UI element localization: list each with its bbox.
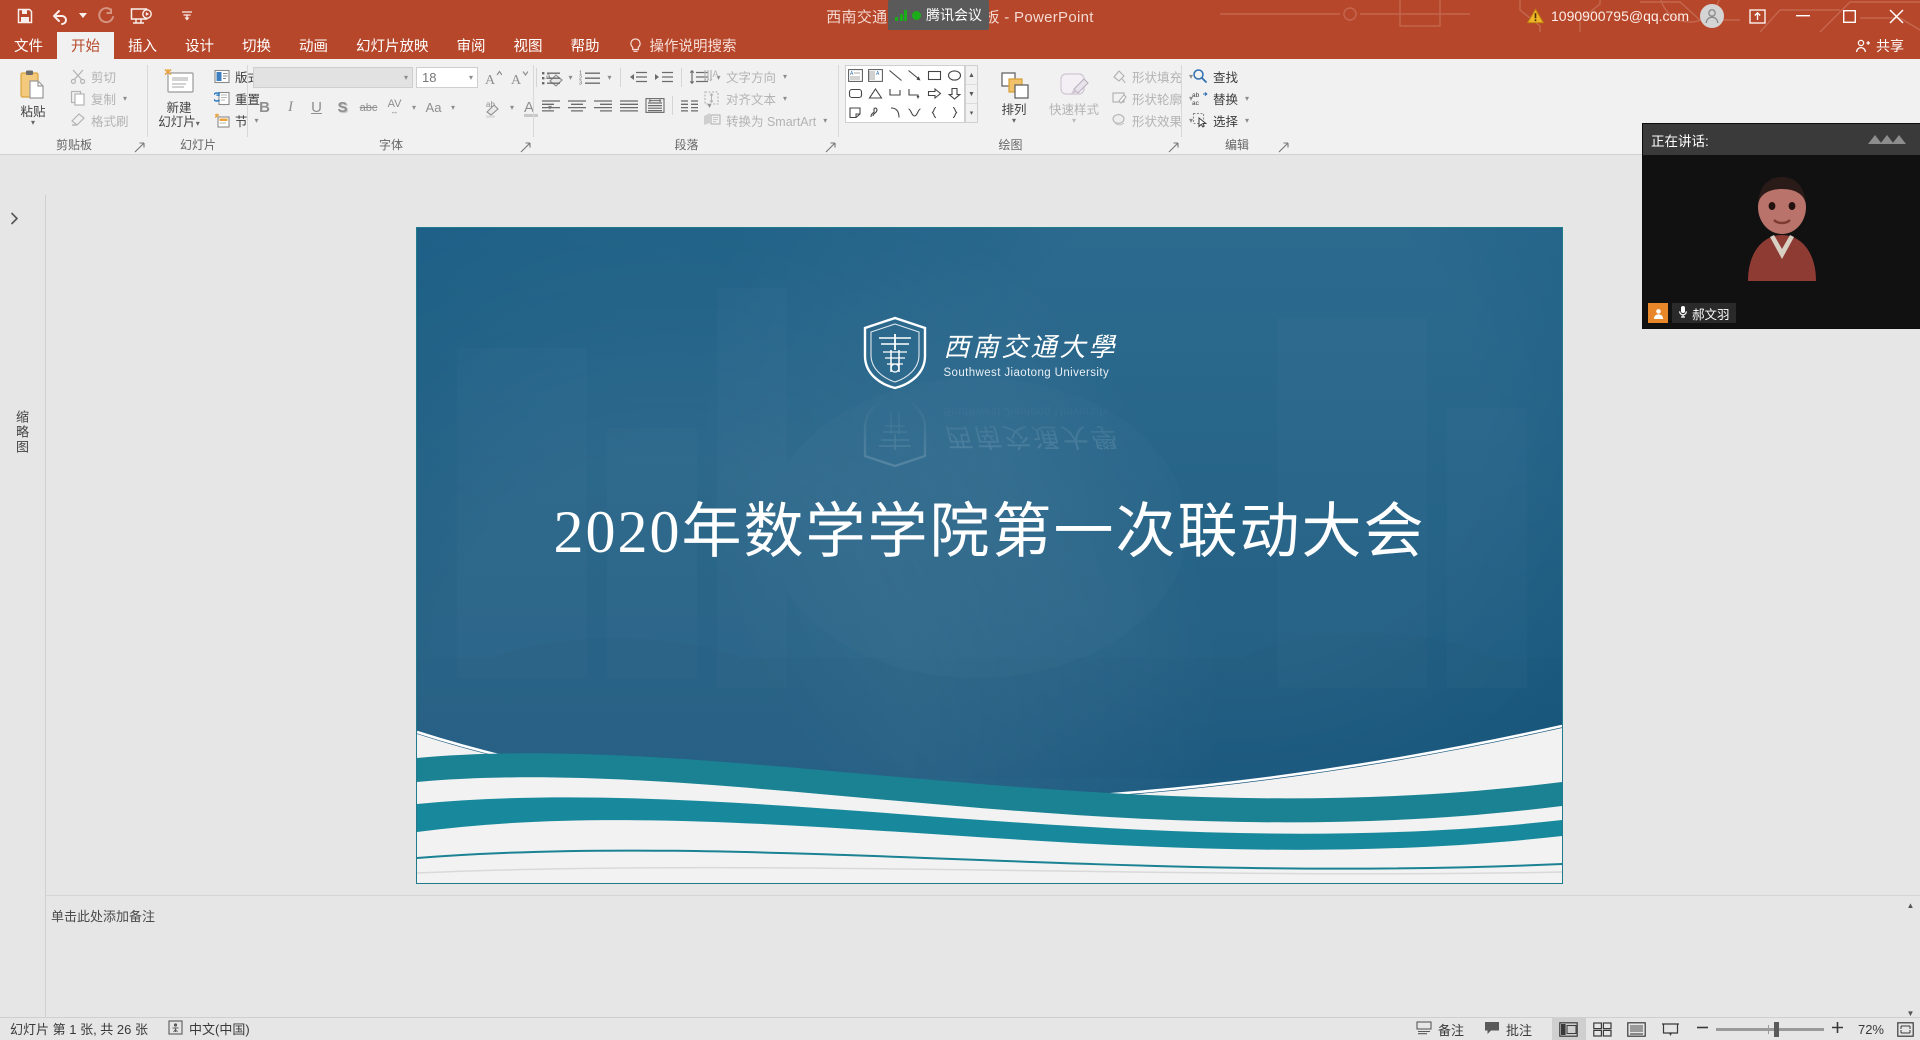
undo-icon[interactable] <box>42 0 76 32</box>
layout-icon <box>214 69 230 84</box>
slide-title-text[interactable]: 2020年数学学院第一次联动大会 <box>417 483 1562 570</box>
drawing-dialog-launcher[interactable] <box>1168 141 1180 153</box>
shapes-gallery-scrollbar[interactable]: ▲ ▼ ▾ <box>965 65 978 123</box>
ribbon-tab-strip: 文件 开始 插入 设计 切换 动画 幻灯片放映 审阅 视图 帮助 操作说明搜索 … <box>0 32 1920 59</box>
university-logo: 西南交通大學 Southwest Jiaotong University <box>417 316 1562 390</box>
meeting-badge-label: 腾讯会议 <box>926 5 982 25</box>
shape-fill-label: 形状填充 <box>1132 67 1182 86</box>
svg-text:ab: ab <box>1192 92 1200 99</box>
format-painter-label: 格式刷 <box>91 111 129 130</box>
zoom-out-icon[interactable] <box>1696 1021 1709 1037</box>
maximize-icon[interactable] <box>1826 0 1872 32</box>
character-spacing-caret-icon[interactable]: ▾ <box>408 95 420 120</box>
tab-transitions[interactable]: 切换 <box>228 32 285 59</box>
shape-rectangle-icon[interactable] <box>925 66 945 85</box>
shape-elbow-arrow-connector-icon[interactable] <box>905 85 925 104</box>
underline-button[interactable]: U <box>304 95 329 120</box>
quick-styles-button[interactable]: 快速样式 ▾ <box>1043 65 1105 124</box>
signal-strength-icon <box>895 10 907 21</box>
smartart-icon <box>703 112 721 128</box>
text-direction-label: 文字方向 <box>726 67 776 86</box>
justify-button[interactable] <box>616 93 642 118</box>
shapes-scroll-down-icon[interactable]: ▼ <box>966 85 977 104</box>
customize-qat-icon[interactable] <box>170 0 204 32</box>
meeting-video-feed[interactable]: 郝文羽 <box>1643 155 1920 328</box>
recording-dot-icon <box>912 11 921 20</box>
shape-curve-icon[interactable] <box>905 103 925 122</box>
italic-button[interactable]: I <box>278 95 303 120</box>
university-name-cn-reflection: 西南交通大學 <box>943 420 1117 457</box>
ribbon-group-clipboard: 粘贴 ▾ 剪切 复制 ▾ 格式刷 <box>0 59 148 155</box>
shape-folded-corner-icon[interactable] <box>846 103 866 122</box>
tencent-meeting-titlebar-badge[interactable]: 腾讯会议 <box>888 0 989 30</box>
tab-home[interactable]: 开始 <box>57 32 114 59</box>
text-highlight-color-button[interactable]: ab <box>480 95 506 120</box>
shape-effects-icon <box>1111 112 1127 128</box>
notes-toggle-button[interactable]: 备注 <box>1406 1020 1474 1039</box>
shape-vertical-textbox-icon[interactable]: A <box>866 66 886 85</box>
arrange-caret-icon[interactable]: ▾ <box>1012 118 1016 124</box>
replace-caret-icon[interactable]: ▾ <box>1245 94 1249 103</box>
svg-text:A: A <box>850 71 854 77</box>
new-slide-label-line2: 幻灯片 <box>158 115 196 129</box>
slideshow-button[interactable] <box>1654 1018 1688 1040</box>
increase-font-size-button[interactable]: A <box>480 65 506 90</box>
zoom-thumb[interactable] <box>1774 1022 1779 1037</box>
format-painter-icon <box>70 112 86 128</box>
lightbulb-icon <box>628 38 643 54</box>
align-text-label: 对齐文本 <box>726 89 776 108</box>
paste-icon <box>16 69 50 103</box>
shape-down-arrow-icon[interactable] <box>944 85 964 104</box>
font-size-value: 18 <box>422 70 436 85</box>
text-direction-button[interactable]: A 文字方向 ▾ <box>699 65 831 87</box>
text-shadow-button[interactable]: S <box>330 95 355 120</box>
slide-canvas[interactable]: 西南交通大學 Southwest Jiaotong University 西南交… <box>417 228 1562 883</box>
tab-animations[interactable]: 动画 <box>285 32 342 59</box>
editing-dialog-launcher[interactable] <box>1278 141 1290 153</box>
save-icon[interactable] <box>8 0 42 32</box>
language-label: 中文(中国) <box>189 1019 250 1038</box>
bullets-caret-icon[interactable]: ▾ <box>564 65 577 90</box>
svg-text:ac: ac <box>1192 100 1200 106</box>
shape-elbow-connector-icon[interactable] <box>885 85 905 104</box>
paste-caret-icon[interactable]: ▾ <box>31 120 35 126</box>
tab-file[interactable]: 文件 <box>0 32 57 59</box>
distributed-button[interactable] <box>642 93 668 118</box>
replace-icon: abac <box>1192 90 1208 106</box>
account-area[interactable]: 1090900795@qq.com <box>1527 0 1724 32</box>
align-center-button[interactable] <box>564 93 590 118</box>
shape-left-brace-icon[interactable] <box>925 103 945 122</box>
university-name-en-reflection: Southwest Jiaotong University <box>943 405 1117 417</box>
notes-placeholder[interactable]: 单击此处添加备注 <box>51 906 155 925</box>
avatar[interactable] <box>1700 4 1724 28</box>
notes-pane[interactable]: 单击此处添加备注 ▲ ▼ <box>46 895 1920 1023</box>
meeting-window-decoration <box>1866 132 1912 148</box>
shape-effects-label: 形状效果 <box>1132 111 1182 130</box>
quick-styles-caret-icon[interactable]: ▾ <box>1072 118 1076 124</box>
normal-view-button[interactable] <box>1552 1018 1586 1040</box>
text-direction-caret-icon[interactable]: ▾ <box>783 72 787 81</box>
align-left-button[interactable] <box>538 93 564 118</box>
quick-access-toolbar <box>8 0 204 32</box>
copy-caret-icon[interactable]: ▾ <box>123 94 127 103</box>
crest-reflection-icon <box>861 394 929 468</box>
zoom-midpoint-tick <box>1768 1025 1769 1034</box>
numbering-button[interactable]: 123 <box>577 65 603 90</box>
ribbon-display-options-icon[interactable] <box>1734 0 1780 32</box>
thumbnail-pane-label: 缩略图 <box>12 410 31 455</box>
find-label: 查找 <box>1213 67 1238 86</box>
shapes-gallery[interactable]: A A <box>845 65 965 123</box>
tab-review[interactable]: 审阅 <box>443 32 500 59</box>
select-label: 选择 <box>1213 111 1238 130</box>
ribbon-group-editing: 查找 abac 替换 ▾ 选择 ▾ 编辑 <box>1182 59 1292 155</box>
slide-thumbnail-pane-collapsed[interactable]: 缩略图 <box>0 195 46 1023</box>
slide-indicator[interactable]: 幻灯片 第 1 张, 共 26 张 <box>0 1019 158 1038</box>
change-case-caret-icon[interactable]: ▾ <box>447 95 459 120</box>
status-bar-right: 备注 批注 <box>1406 1018 1920 1040</box>
smartart-caret-icon[interactable]: ▾ <box>823 116 827 125</box>
shape-scribble-icon[interactable] <box>866 103 886 122</box>
comments-button[interactable]: 批注 <box>1474 1020 1542 1039</box>
meeting-window-header: 正在讲话: <box>1643 124 1920 155</box>
shape-triangle-icon[interactable] <box>866 85 886 104</box>
meeting-speaking-label: 正在讲话: <box>1651 130 1709 150</box>
group-label-drawing: 绘图 <box>839 136 1182 153</box>
ribbon: 粘贴 ▾ 剪切 复制 ▾ 格式刷 <box>0 59 1920 155</box>
microphone-icon <box>1678 305 1688 321</box>
search-input[interactable]: 操作说明搜索 <box>614 32 747 59</box>
group-label-slides: 幻灯片 <box>148 136 248 153</box>
comments-button-label: 批注 <box>1506 1020 1532 1039</box>
align-text-icon <box>703 90 721 106</box>
shape-arrow-icon[interactable] <box>905 66 925 85</box>
font-format-buttons: B I U S abc AV ↔ ▾ Aa ▾ <box>252 95 459 120</box>
tab-help[interactable]: 帮助 <box>557 32 614 59</box>
section-label: 节 <box>235 111 248 130</box>
arrange-button[interactable]: 排列 ▾ <box>985 65 1043 124</box>
comment-bubble-icon <box>1484 1021 1500 1038</box>
new-slide-button[interactable]: 新建 幻灯片▾ <box>150 63 208 131</box>
numbering-caret-icon[interactable]: ▾ <box>603 65 616 90</box>
svg-text:A: A <box>876 71 880 77</box>
new-slide-label-line1: 新建 <box>166 101 191 115</box>
align-right-button[interactable] <box>590 93 616 118</box>
font-size-input[interactable]: 18 ▾ <box>416 67 478 88</box>
cut-label: 剪切 <box>91 67 116 86</box>
undo-dropdown-caret-icon[interactable] <box>76 0 90 32</box>
tab-insert[interactable]: 插入 <box>114 32 171 59</box>
select-icon <box>1192 112 1208 128</box>
meeting-speaker-nameplate: 郝文羽 <box>1648 303 1736 323</box>
search-icon <box>1192 68 1208 84</box>
svg-text:A: A <box>511 73 522 87</box>
zoom-track[interactable] <box>1716 1028 1824 1031</box>
notes-icon <box>1416 1021 1432 1038</box>
svg-text:3: 3 <box>579 80 582 85</box>
university-crest-icon <box>861 316 929 390</box>
strikethrough-button[interactable]: abc <box>356 95 381 120</box>
arrange-icon <box>997 71 1031 101</box>
shape-arc-icon[interactable] <box>885 103 905 122</box>
group-label-paragraph: 段落 <box>534 136 839 153</box>
notes-scroll-up-icon[interactable]: ▲ <box>1903 898 1918 913</box>
fit-slide-to-window-button[interactable] <box>1890 1018 1920 1040</box>
accessibility-icon <box>168 1020 183 1038</box>
shape-outline-icon <box>1111 90 1127 106</box>
copy-icon <box>70 90 86 106</box>
share-label: 共享 <box>1876 36 1904 56</box>
cut-button[interactable]: 剪切 <box>66 65 133 87</box>
tencent-meeting-floating-window[interactable]: 正在讲话: 郝文羽 <box>1643 124 1920 328</box>
status-bar: 幻灯片 第 1 张, 共 26 张 中文(中国) 备注 批注 <box>0 1017 1920 1039</box>
scissors-icon <box>70 68 86 84</box>
align-text-caret-icon[interactable]: ▾ <box>783 94 787 103</box>
font-dialog-launcher[interactable] <box>520 141 532 153</box>
tab-slideshow[interactable]: 幻灯片放映 <box>342 32 443 59</box>
start-slideshow-icon[interactable] <box>124 0 158 32</box>
zoom-in-icon[interactable] <box>1831 1021 1844 1037</box>
shape-line-icon[interactable] <box>885 66 905 85</box>
tab-view[interactable]: 视图 <box>500 32 557 59</box>
redo-icon[interactable] <box>90 0 124 32</box>
university-logo-reflection: 西南交通大學 Southwest Jiaotong University <box>417 394 1562 468</box>
font-size-caret-icon[interactable]: ▾ <box>469 73 473 82</box>
university-name-cn: 西南交通大學 <box>943 327 1117 364</box>
university-name-en: Southwest Jiaotong University <box>943 367 1117 379</box>
ribbon-group-font: ▾ 18 ▾ A A A B I U S <box>248 59 534 155</box>
clipboard-dialog-launcher[interactable] <box>134 141 146 153</box>
language-indicator[interactable]: 中文(中国) <box>158 1019 260 1038</box>
copy-label: 复制 <box>91 89 116 108</box>
group-label-clipboard: 剪贴板 <box>0 136 148 153</box>
new-slide-icon <box>162 69 196 99</box>
shape-outline-label: 形状轮廓 <box>1132 89 1182 108</box>
shape-right-brace-icon[interactable] <box>944 103 964 122</box>
shape-right-arrow-icon[interactable] <box>925 85 945 104</box>
group-label-editing: 编辑 <box>1182 136 1292 153</box>
zoom-level-label[interactable]: 72% <box>1852 1022 1890 1037</box>
slide-editing-area: 西南交通大學 Southwest Jiaotong University 西南交… <box>46 195 1920 895</box>
ribbon-group-paragraph: ▾ 123 ▾ ▾ <box>534 59 839 155</box>
format-painter-button[interactable]: 格式刷 <box>66 109 133 131</box>
shapes-gallery-more-icon[interactable]: ▾ <box>966 104 977 122</box>
character-spacing-button[interactable]: AV ↔ <box>382 95 407 120</box>
select-button[interactable]: 选择 ▾ <box>1188 109 1253 131</box>
replace-button[interactable]: abac 替换 ▾ <box>1188 87 1253 109</box>
font-name-input[interactable]: ▾ <box>253 67 413 88</box>
ribbon-group-drawing: A A ▲ ▼ ▾ <box>839 59 1182 155</box>
person-badge-icon <box>1648 303 1668 323</box>
person-icon <box>1734 173 1830 281</box>
slide-wave-decoration <box>417 708 1562 883</box>
highlight-caret-icon[interactable]: ▾ <box>506 95 518 120</box>
close-icon[interactable] <box>1872 0 1920 32</box>
zoom-slider[interactable] <box>1688 1021 1852 1037</box>
notes-button-label: 备注 <box>1438 1020 1464 1039</box>
font-name-caret-icon[interactable]: ▾ <box>404 73 408 82</box>
align-text-button[interactable]: 对齐文本 ▾ <box>699 87 831 109</box>
decrease-indent-button[interactable] <box>625 65 651 90</box>
share-person-icon <box>1855 38 1871 53</box>
warning-icon[interactable] <box>1527 8 1544 24</box>
window-controls <box>1734 0 1920 32</box>
minimize-icon[interactable] <box>1780 0 1826 32</box>
meeting-speaker-name: 郝文羽 <box>1692 304 1730 323</box>
account-email[interactable]: 1090900795@qq.com <box>1551 8 1689 24</box>
find-button[interactable]: 查找 <box>1188 65 1253 87</box>
text-direction-icon: A <box>703 68 721 84</box>
shape-fill-icon <box>1111 68 1127 84</box>
copy-button[interactable]: 复制 ▾ <box>66 87 133 109</box>
shape-rounded-rectangle-icon[interactable] <box>846 85 866 104</box>
change-case-button[interactable]: Aa <box>421 95 446 120</box>
shapes-scroll-up-icon[interactable]: ▲ <box>966 66 977 85</box>
shape-textbox-icon[interactable]: A <box>846 66 866 85</box>
share-button[interactable]: 共享 <box>1847 32 1912 59</box>
bullets-button[interactable] <box>538 65 564 90</box>
bold-button[interactable]: B <box>252 95 277 120</box>
convert-to-smartart-button[interactable]: 转换为 SmartArt ▾ <box>699 109 831 131</box>
select-caret-icon[interactable]: ▾ <box>1245 116 1249 125</box>
group-label-font: 字体 <box>248 136 534 153</box>
reading-view-button[interactable] <box>1620 1018 1654 1040</box>
increase-indent-button[interactable] <box>651 65 677 90</box>
tab-design[interactable]: 设计 <box>171 32 228 59</box>
shape-oval-icon[interactable] <box>944 66 964 85</box>
convert-to-smartart-label: 转换为 SmartArt <box>726 111 816 130</box>
ribbon-group-slides: 新建 幻灯片▾ 版式 ▾ 重置 节 <box>148 59 248 155</box>
replace-label: 替换 <box>1213 89 1238 108</box>
slide-sorter-button[interactable] <box>1586 1018 1620 1040</box>
section-icon <box>214 113 230 128</box>
chevron-right-icon[interactable] <box>10 212 19 228</box>
quick-styles-icon <box>1056 71 1092 101</box>
reset-icon <box>214 91 230 106</box>
search-placeholder-label: 操作说明搜索 <box>650 35 737 56</box>
decrease-font-size-button[interactable]: A <box>506 65 532 90</box>
svg-text:A: A <box>713 69 719 79</box>
title-bar: 西南交通大学-万可枪活板 - PowerPoint 腾讯会议 <box>0 0 1920 32</box>
paragraph-dialog-launcher[interactable] <box>825 141 837 153</box>
paste-button[interactable]: 粘贴 ▾ <box>4 63 62 126</box>
svg-text:A: A <box>485 73 496 87</box>
